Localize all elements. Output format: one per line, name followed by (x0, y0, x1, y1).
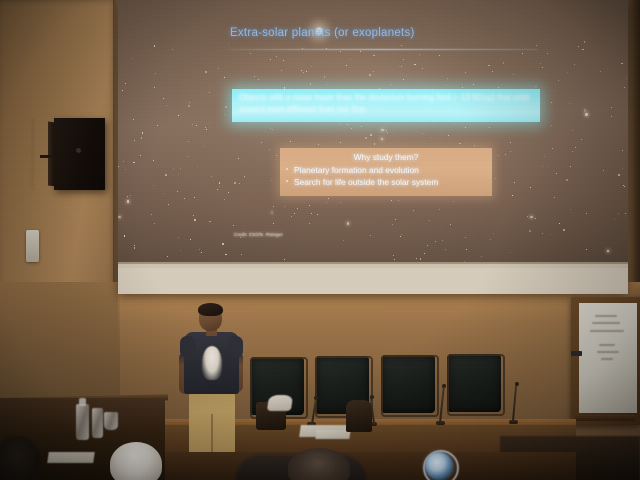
star (381, 138, 384, 141)
presenter-left-shoulder (180, 336, 196, 358)
star (189, 102, 190, 103)
slide-title: Extra-solar planets (or exoplanets) (230, 27, 415, 39)
star (401, 45, 402, 46)
star (603, 170, 604, 171)
star (271, 211, 274, 214)
star (466, 249, 467, 250)
star (188, 105, 190, 107)
star (393, 255, 394, 256)
star (510, 252, 511, 253)
star (386, 130, 388, 132)
star (607, 250, 610, 253)
star (311, 66, 312, 67)
star (125, 83, 126, 84)
star (234, 182, 236, 184)
star (350, 59, 351, 60)
star (542, 166, 543, 167)
star (290, 141, 291, 142)
star (584, 41, 586, 43)
star (422, 133, 423, 134)
star (133, 162, 135, 164)
star (492, 71, 493, 72)
star (445, 249, 446, 250)
star (465, 237, 466, 238)
star (178, 174, 179, 175)
star (439, 55, 440, 56)
star (194, 219, 196, 221)
star (219, 182, 221, 184)
whiteboard-surface (579, 303, 637, 413)
star (585, 113, 588, 116)
star (416, 258, 417, 259)
star (206, 129, 207, 130)
star (209, 221, 211, 223)
star (373, 55, 375, 57)
star (347, 124, 348, 125)
star (281, 70, 282, 71)
star (201, 252, 202, 253)
star (317, 214, 318, 215)
star (244, 176, 246, 178)
water-bottle (92, 408, 103, 438)
star (621, 63, 623, 65)
star (180, 250, 181, 251)
star (611, 116, 612, 117)
star (270, 59, 271, 60)
star (327, 84, 328, 85)
star (180, 168, 181, 169)
definition-box: Objects with a mass lower than the deute… (232, 89, 540, 122)
star (291, 216, 292, 217)
star (204, 146, 205, 147)
star (554, 197, 555, 198)
star (495, 178, 496, 179)
star (347, 222, 350, 225)
star (125, 169, 126, 170)
microphone-head-icon (442, 384, 446, 388)
star (141, 137, 143, 139)
star (339, 123, 340, 124)
star (311, 213, 312, 214)
star (530, 216, 533, 219)
star (578, 46, 579, 47)
star (572, 151, 573, 152)
star (584, 109, 587, 112)
star (540, 63, 541, 64)
star (566, 179, 568, 181)
star (309, 205, 310, 206)
bullet-icon (286, 180, 288, 182)
star (624, 186, 625, 187)
star (442, 240, 443, 241)
star (324, 76, 326, 78)
star (239, 183, 240, 184)
star (294, 213, 295, 214)
star (370, 134, 372, 136)
star (205, 71, 207, 73)
star (187, 156, 188, 157)
star (118, 166, 119, 167)
star (303, 72, 304, 73)
star (453, 201, 454, 202)
projected-slide: Extra-solar planets (or exoplanets) Obje… (118, 0, 628, 262)
star (178, 115, 179, 116)
star (283, 60, 284, 61)
star (328, 198, 329, 199)
star (224, 77, 225, 78)
star (618, 213, 619, 214)
star (547, 53, 548, 54)
star (157, 125, 158, 126)
star (124, 235, 126, 237)
star (446, 85, 447, 86)
star (398, 66, 399, 67)
star (622, 168, 623, 169)
star (547, 166, 548, 167)
star (394, 259, 395, 260)
star (514, 182, 515, 183)
star (301, 70, 302, 71)
star (563, 229, 565, 231)
star (184, 198, 185, 199)
title-underline (228, 49, 538, 50)
star (454, 123, 455, 124)
star (346, 65, 347, 66)
star (193, 215, 194, 216)
star (551, 125, 552, 126)
whiteboard-tray (575, 415, 635, 421)
wall-speaker-icon (54, 118, 105, 190)
star (422, 68, 423, 69)
star (381, 129, 384, 132)
star (624, 87, 625, 88)
star (217, 189, 218, 190)
star (424, 253, 425, 254)
star (133, 119, 134, 120)
star (535, 218, 536, 219)
star (340, 142, 341, 143)
star (582, 49, 584, 51)
star (465, 127, 466, 128)
star (510, 142, 511, 143)
star (400, 236, 401, 237)
star (167, 256, 168, 257)
star (340, 202, 341, 203)
star (343, 240, 344, 241)
microphone-base (436, 421, 445, 425)
star (209, 92, 210, 93)
star (173, 168, 174, 169)
star (586, 213, 587, 214)
star (238, 158, 239, 159)
star (351, 128, 352, 129)
star (551, 102, 552, 103)
star (401, 66, 402, 67)
star (512, 195, 513, 196)
star (403, 59, 404, 60)
star (270, 128, 271, 129)
wall-trim (28, 118, 34, 190)
star (272, 129, 273, 130)
whiteboard (571, 297, 640, 425)
star (625, 213, 626, 214)
star (489, 127, 490, 128)
star (474, 145, 475, 146)
star (535, 86, 537, 88)
star (228, 192, 229, 193)
star (254, 76, 255, 77)
star (413, 210, 414, 211)
star (552, 148, 553, 149)
star (542, 233, 543, 234)
star (154, 223, 155, 224)
motivation-heading: Why study them? (289, 152, 483, 162)
star (391, 84, 392, 85)
star (134, 140, 135, 141)
star (233, 225, 234, 226)
star (558, 80, 559, 81)
paper-document (315, 430, 350, 439)
bottle-cap (79, 398, 86, 406)
star (556, 173, 557, 174)
bullet-icon (286, 168, 288, 170)
star (196, 125, 197, 126)
star (140, 155, 141, 156)
star (527, 216, 528, 217)
star (310, 83, 312, 85)
star (172, 49, 173, 50)
star (318, 144, 319, 145)
star (210, 122, 211, 123)
star (465, 72, 466, 73)
star (225, 254, 227, 256)
audience-head-dark-hair (288, 448, 350, 480)
star (574, 64, 575, 65)
star (447, 78, 448, 79)
star (228, 43, 229, 44)
star (225, 106, 227, 108)
star (513, 74, 514, 75)
star (420, 258, 422, 260)
drinking-glass (104, 412, 118, 430)
star (544, 156, 545, 157)
screen-surface: Extra-solar planets (or exoplanets) Obje… (118, 0, 628, 268)
paper-on-front-table (47, 452, 95, 463)
star (401, 234, 402, 235)
star (273, 223, 274, 224)
star (327, 202, 328, 203)
star (426, 125, 427, 126)
star (284, 206, 285, 207)
star (618, 174, 620, 176)
star (130, 195, 131, 196)
presenter-shirt-graphic (202, 346, 222, 380)
star (570, 166, 571, 167)
star (151, 214, 152, 215)
motivation-bullet-2: Search for life outside the solar system (294, 177, 490, 187)
star (481, 256, 482, 257)
star (224, 199, 225, 200)
star (370, 235, 371, 236)
star (559, 223, 560, 224)
star (488, 65, 490, 67)
star (309, 223, 310, 224)
star (340, 51, 341, 52)
star (392, 224, 393, 225)
star (626, 78, 627, 79)
star (427, 245, 428, 246)
star (403, 79, 404, 80)
star (190, 239, 191, 240)
star (306, 71, 307, 72)
star (530, 187, 531, 188)
star (134, 245, 135, 246)
star (575, 147, 576, 148)
star (611, 107, 612, 108)
star (581, 139, 582, 140)
star (297, 208, 298, 209)
microphone-head-icon (314, 396, 318, 400)
star (127, 196, 128, 197)
star (550, 234, 551, 235)
star (211, 176, 212, 177)
star (168, 204, 169, 205)
star (197, 166, 198, 167)
star (269, 149, 270, 150)
star (163, 98, 164, 99)
star (448, 135, 449, 136)
star (369, 74, 371, 76)
star (529, 230, 531, 232)
motivation-box: Why study them? Planetary formation and … (280, 148, 492, 196)
star (155, 73, 156, 74)
star (360, 51, 361, 52)
star (118, 216, 121, 219)
star (498, 155, 499, 156)
star (218, 68, 219, 69)
motivation-bullet-1: Planetary formation and evolution (294, 165, 490, 175)
star (570, 209, 571, 210)
star (493, 233, 494, 234)
star (391, 200, 392, 201)
star (365, 137, 367, 139)
star (188, 141, 189, 142)
star (154, 45, 156, 47)
star (261, 142, 262, 143)
star (522, 53, 523, 54)
speaker-cone (76, 148, 81, 153)
right-wall-edge (626, 0, 640, 300)
star (569, 103, 570, 104)
star (398, 200, 399, 201)
whiteboard-marker (571, 351, 582, 356)
star (572, 130, 574, 132)
star (505, 154, 506, 155)
star (192, 124, 193, 125)
star (435, 241, 436, 242)
star (284, 259, 285, 260)
star (258, 79, 259, 80)
table-object (346, 400, 372, 432)
star (154, 87, 155, 88)
water-bottle (76, 404, 89, 440)
projection-screen: Extra-solar planets (or exoplanets) Obje… (118, 0, 628, 294)
star (241, 254, 242, 255)
star (567, 72, 568, 73)
star (536, 45, 537, 46)
star (142, 132, 144, 134)
star (224, 114, 225, 115)
star (222, 243, 224, 245)
definition-text: Objects with a mass lower than the deute… (239, 92, 535, 117)
star (276, 155, 277, 156)
presenter-right-shoulder (228, 336, 243, 358)
star (123, 161, 124, 162)
star (439, 209, 440, 210)
presenter-hair (198, 303, 223, 316)
microphone-head-icon (370, 395, 374, 399)
star (271, 180, 272, 181)
star (165, 174, 167, 176)
star (459, 143, 461, 145)
star (490, 239, 491, 240)
star (134, 247, 136, 249)
star (219, 186, 220, 187)
star (623, 185, 624, 186)
paper-stack (267, 395, 293, 411)
star (387, 132, 389, 134)
star (250, 53, 251, 54)
star (503, 62, 505, 64)
star (614, 219, 615, 220)
star (510, 151, 511, 152)
star (373, 71, 374, 72)
star (450, 224, 451, 225)
audience-head-white-hair (110, 442, 162, 480)
star (429, 220, 430, 221)
star (178, 237, 179, 238)
star (132, 58, 133, 59)
star (395, 219, 397, 221)
star (276, 56, 277, 57)
star (127, 200, 130, 203)
star (177, 191, 178, 192)
star (473, 84, 474, 85)
wall-sign (26, 230, 39, 262)
slide-credit: Credit: ESO/N. Risinger (234, 232, 283, 237)
star (163, 193, 164, 194)
star (194, 197, 195, 198)
star (361, 126, 362, 127)
star (166, 105, 167, 106)
star (153, 185, 154, 186)
star (199, 249, 200, 250)
lecture-hall-photo: Extra-solar planets (or exoplanets) Obje… (0, 0, 640, 480)
star (431, 137, 432, 138)
star (542, 67, 543, 68)
institution-emblem-icon (425, 452, 453, 480)
star (414, 64, 416, 66)
star (600, 71, 602, 73)
screen-edge-line (118, 262, 628, 264)
microphone-base (509, 420, 518, 424)
star (122, 90, 123, 91)
star (153, 160, 154, 161)
star (586, 249, 587, 250)
star (374, 143, 376, 145)
star (419, 54, 420, 55)
star (273, 206, 274, 207)
